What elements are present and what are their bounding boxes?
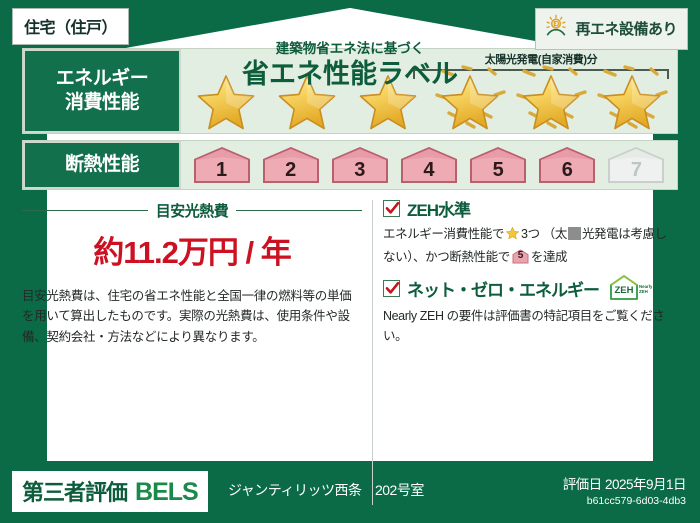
sun-renewable-icon (544, 14, 568, 43)
zeh-netzero-checkbox[interactable] (383, 280, 400, 297)
insulation-label-text: 断熱性能 (65, 153, 139, 177)
title-main: 省エネ性能ラベル (0, 59, 700, 90)
zeh-desc-part1: エネルギー消費性能で (383, 227, 504, 241)
utility-cost-heading: 目安光熱費 (22, 200, 362, 221)
zeh-netzero-desc: Nearly ZEH の要件は評価書の特記項目をご覧ください。 (383, 306, 678, 346)
property-name: ジャンティリッツ西条 202号室 (228, 480, 424, 500)
star-icon (505, 230, 520, 244)
house-type-chip: 住宅（住戸） (12, 8, 129, 45)
insulation-grade-7: 7 (606, 145, 666, 185)
zeh-standard-title: ZEH水準 (407, 196, 470, 221)
bels-badge-en: BELS (135, 478, 198, 507)
zeh-standard-head: ZEH水準 (383, 196, 678, 221)
evaluation-info: 評価日 2025年9月1日 b61cc579-6d03-4db3 (563, 473, 686, 507)
insulation-grade-4: 4 (399, 145, 459, 185)
grade-number: 4 (399, 159, 459, 182)
zeh-nearly-logo: ZEH Nearly ZEH (608, 273, 652, 303)
zeh-desc-part4: を達成 (531, 250, 567, 264)
grade-number: 6 (537, 159, 597, 182)
zeh-desc-part2: 3つ （太 (521, 227, 567, 241)
grade-number: 5 (468, 159, 528, 182)
bels-badge: 第三者評価 BELS (12, 471, 208, 512)
insulation-grade-3: 3 (330, 145, 390, 185)
energy-label-line2: 消費性能 (65, 91, 139, 115)
insulation-grade-6: 6 (537, 145, 597, 185)
zeh-item-standard: ZEH水準 エネルギー消費性能で3つ （太光発電は考慮しない）、かつ断熱性能で5… (383, 196, 678, 267)
insulation-grade-row: 1 2 3 4 5 6 (181, 141, 677, 189)
utility-cost-note: 目安光熱費は、住宅の省エネ性能と全国一律の燃料等の単価を用いて算出したものです。… (22, 286, 362, 347)
insulation-performance-row: 断熱性能 1 2 3 4 (22, 140, 678, 190)
inline-grade-badge-number: 5 (512, 248, 529, 264)
insulation-grade-1: 1 (192, 145, 252, 185)
utility-cost-heading-text: 目安光熱費 (156, 200, 229, 221)
label-footer: 第三者評価 BELS ジャンティリッツ西条 202号室 評価日 2025年9月1… (0, 461, 700, 523)
zeh-netzero-head: ネット・ゼロ・エネルギー ZEH Nearly ZEH (383, 273, 678, 303)
svg-text:ZEH: ZEH (615, 285, 634, 296)
evaluation-id: b61cc579-6d03-4db3 (563, 495, 686, 507)
renewable-chip-label: 再エネ設備あり (575, 18, 677, 39)
bels-energy-label: 住宅（住戸） 再エネ設備あり 建築物省エネ法に基づく 省 (0, 0, 700, 523)
zeh-netzero-title: ネット・ゼロ・エネルギー (407, 276, 599, 301)
insulation-performance-label: 断熱性能 (23, 141, 181, 189)
insulation-grade-2: 2 (261, 145, 321, 185)
grade-number: 2 (261, 159, 321, 182)
zeh-standard-desc: エネルギー消費性能で3つ （太光発電は考慮しない）、かつ断熱性能で5を達成 (383, 224, 678, 267)
inline-grade-badge-5: 5 (512, 249, 529, 264)
bels-badge-ja: 第三者評価 (22, 475, 127, 507)
masked-char-block (568, 227, 581, 240)
grade-number: 3 (330, 159, 390, 182)
heading-rule-left (22, 210, 148, 211)
vertical-divider (372, 200, 373, 505)
evaluation-date: 評価日 2025年9月1日 (563, 473, 686, 493)
utility-cost-value: 約11.2万円 / 年 (22, 227, 362, 272)
title-subtitle: 建築物省エネ法に基づく (0, 42, 700, 57)
insulation-grade-5: 5 (468, 145, 528, 185)
svg-text:ZEH: ZEH (639, 289, 648, 294)
insulation-performance-body: 1 2 3 4 5 6 (181, 141, 677, 189)
heading-rule-right (236, 210, 362, 211)
grade-number: 7 (606, 159, 666, 182)
grade-number: 1 (192, 159, 252, 182)
zeh-item-net-zero: ネット・ゼロ・エネルギー ZEH Nearly ZEH Nearly ZEH の… (383, 273, 678, 346)
zeh-standard-checkbox[interactable] (383, 200, 400, 217)
label-title-block: 建築物省エネ法に基づく 省エネ性能ラベル (0, 42, 700, 90)
